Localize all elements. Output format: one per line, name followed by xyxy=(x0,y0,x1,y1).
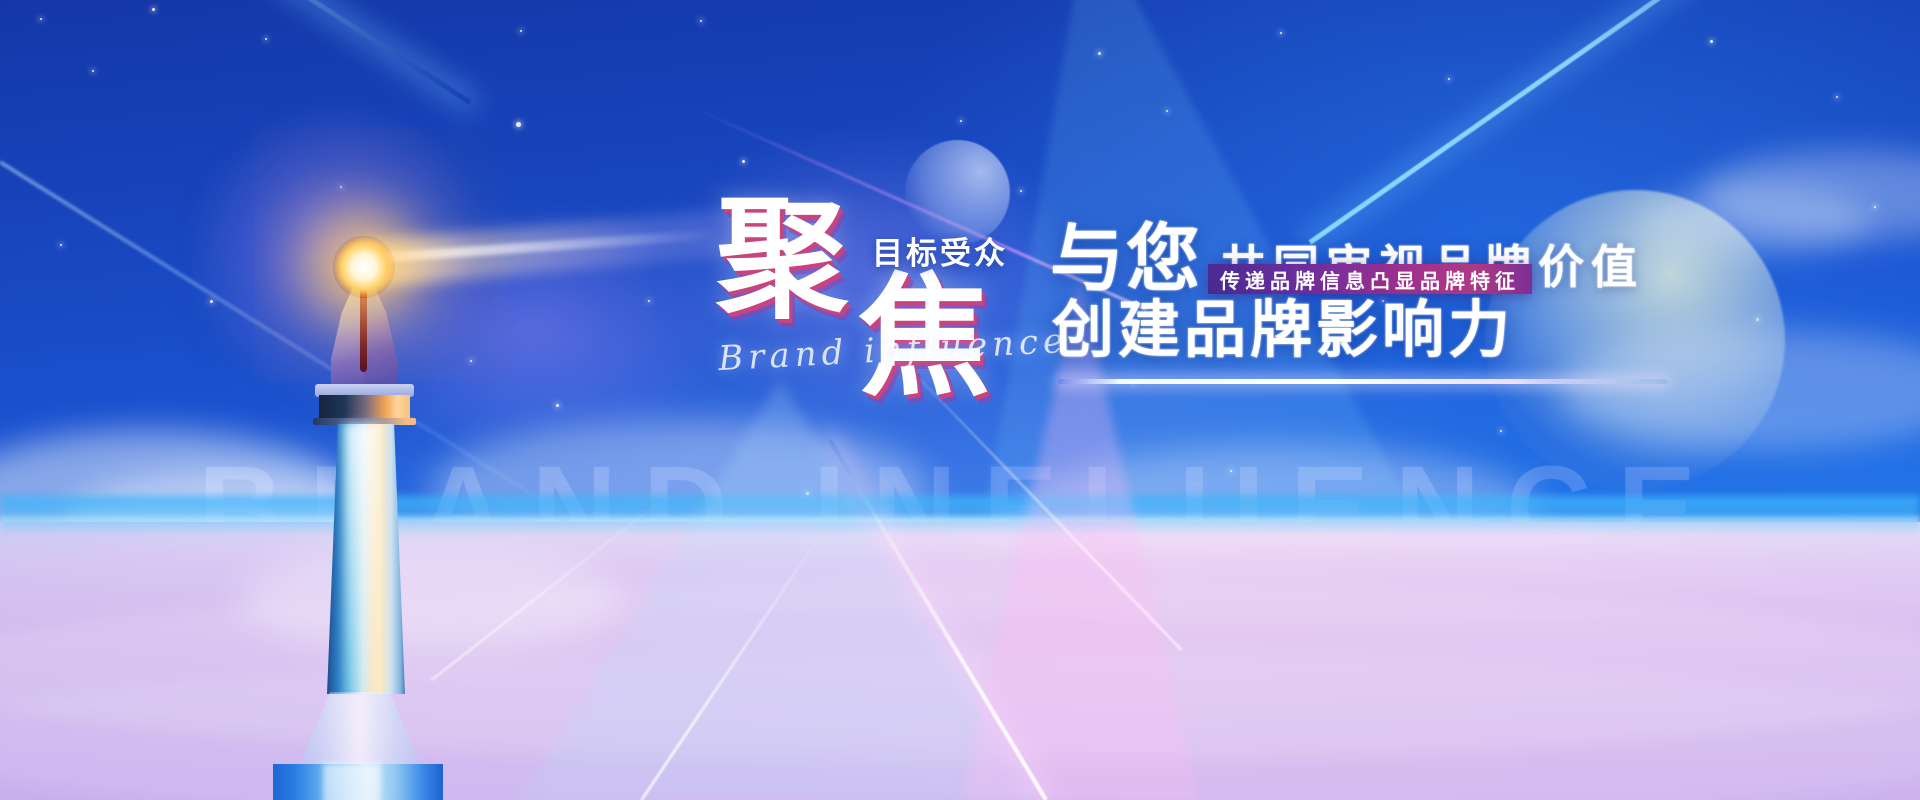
pen-nib-lighthouse-icon xyxy=(305,224,475,800)
headline-glyph-ju: 聚 xyxy=(716,194,848,326)
audience-tag: 目标受众 xyxy=(872,228,1008,273)
headline-line-2: 创建品牌影响力 xyxy=(1052,300,1514,362)
headline-underline xyxy=(1058,379,1668,384)
lighthouse-lamp-icon xyxy=(333,236,395,298)
light-ray-icon xyxy=(0,0,471,105)
ground-plane xyxy=(0,522,1920,800)
status-badge: 传递品牌信息凸显品牌特征 xyxy=(1208,264,1532,294)
tower-shaft-highlight xyxy=(345,424,379,694)
sea-band xyxy=(0,496,1920,532)
marketing-banner: BRAND INFLUENCE 聚 焦 Brand infl xyxy=(0,0,1920,800)
tower-pillar-highlight xyxy=(323,764,381,800)
headline-line-1-lead: 与您 xyxy=(1050,222,1202,296)
